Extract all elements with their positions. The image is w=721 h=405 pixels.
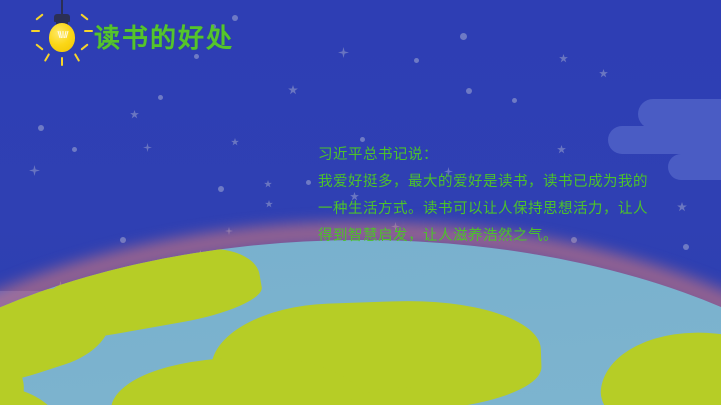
- star-dot: [158, 95, 163, 100]
- cloud-shape: [638, 99, 721, 129]
- landmass: [595, 322, 721, 405]
- earth-graphic: [0, 240, 721, 405]
- bulb-ray: [61, 57, 63, 66]
- quote-body: 我爱好挺多，最大的爱好是读书，读书已成为我的一种生活方式。读书可以让人保持思想活…: [318, 169, 658, 250]
- quote-attribution: 习近平总书记说：: [318, 142, 658, 169]
- cloud-shape: [668, 154, 721, 180]
- presentation-slide: 读书的好处 习近平总书记说： 我爱好挺多，最大的爱好是读书，读书已成为我的一种生…: [0, 0, 721, 405]
- star-dot: [218, 186, 224, 192]
- star-dot: [512, 98, 517, 103]
- bulb-filament: [55, 29, 71, 45]
- bulb-ray: [31, 30, 40, 32]
- star-dot: [72, 147, 77, 152]
- star-dot: [460, 33, 467, 40]
- bulb-ray: [84, 30, 93, 32]
- quote-text-block: 习近平总书记说： 我爱好挺多，最大的爱好是读书，读书已成为我的一种生活方式。读书…: [318, 142, 658, 250]
- star-dot: [466, 88, 472, 94]
- page-title: 读书的好处: [94, 18, 234, 55]
- star-dot: [38, 125, 44, 131]
- star-dot: [414, 58, 419, 63]
- star-dot: [306, 180, 311, 185]
